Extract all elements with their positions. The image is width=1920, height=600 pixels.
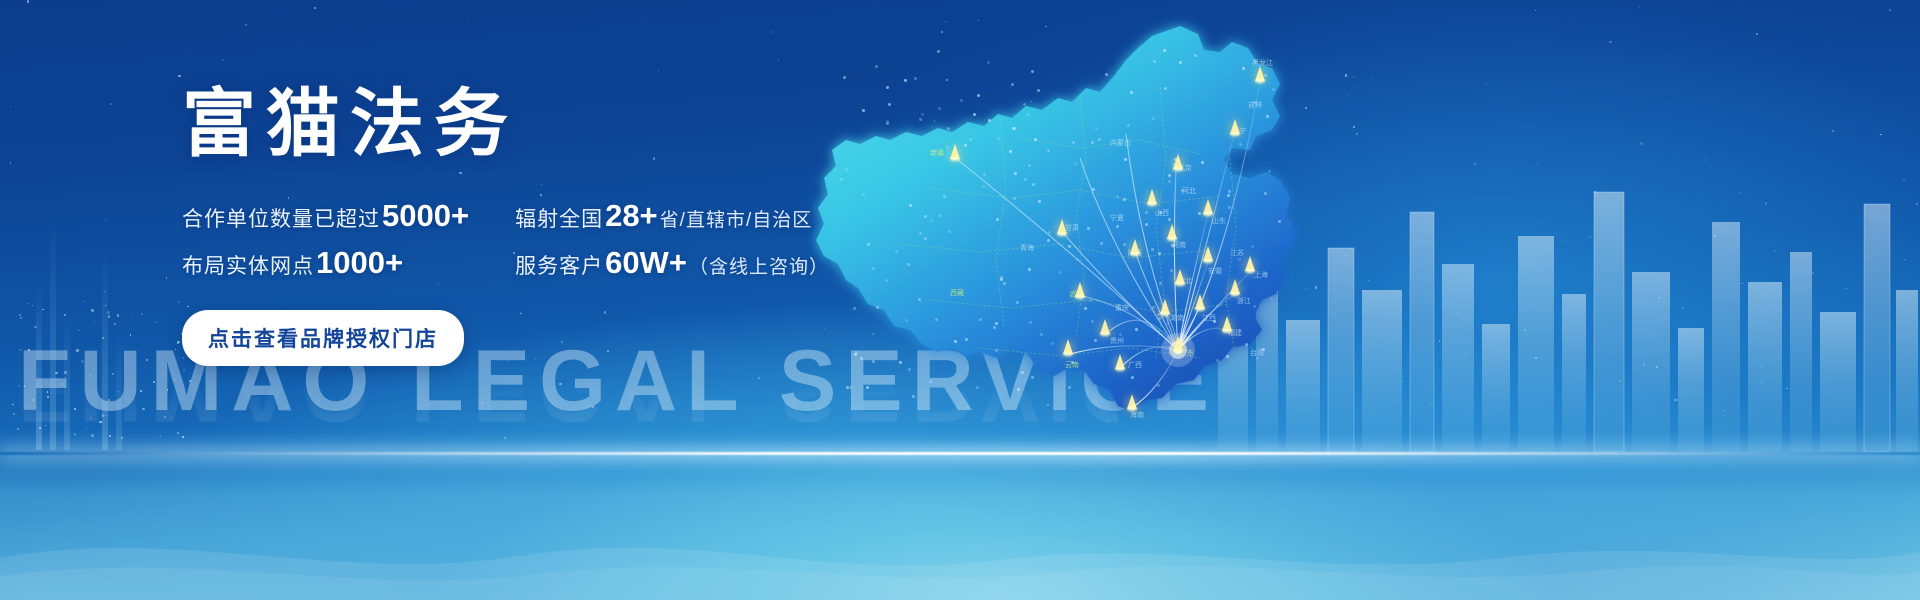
map-city-dot: [1245, 343, 1248, 346]
map-city-dot: [866, 386, 869, 389]
map-province-label: 江西: [1202, 313, 1216, 323]
map-city-dot: [855, 351, 858, 354]
promo-banner: 黑龙江吉林辽宁内蒙古新疆西藏青海甘肃宁夏陕西山西河北北京山东河南江苏安徽上海浙江…: [0, 0, 1920, 600]
map-city-dot: [904, 79, 907, 82]
map-location-marker: [1203, 245, 1213, 261]
particle-dot: [91, 309, 93, 311]
particle-dot: [94, 321, 95, 322]
map-city-dot: [1017, 388, 1020, 391]
map-location-marker: [1160, 298, 1170, 314]
map-city-dot: [1238, 258, 1241, 261]
map-city-dot: [919, 118, 922, 121]
map-city-dot: [1032, 183, 1035, 186]
light-column: [102, 250, 108, 450]
map-city-dot: [1152, 117, 1155, 120]
map-city-dot: [1153, 60, 1156, 63]
map-location-marker: [1195, 293, 1205, 309]
map-city-dot: [1091, 141, 1094, 144]
map-city-dot: [1181, 189, 1184, 192]
map-province-label: 湖北: [1178, 276, 1192, 286]
map-city-dot: [1239, 143, 1242, 146]
map-city-dot: [1116, 195, 1119, 198]
map-city-dot: [1226, 355, 1229, 358]
map-city-dot: [1028, 268, 1031, 271]
map-city-dot: [1158, 317, 1161, 320]
particle-dot: [10, 162, 11, 163]
map-city-dot: [1168, 218, 1171, 221]
map-city-dot: [1071, 361, 1074, 364]
map-city-dot: [1003, 282, 1006, 285]
map-city-dot: [1031, 70, 1034, 73]
stat-number: 28+: [605, 200, 658, 231]
map-city-dot: [993, 326, 996, 329]
map-city-dot: [854, 353, 857, 356]
map-province-label: 海南: [1130, 410, 1144, 420]
map-city-dot: [1087, 227, 1090, 230]
map-location-marker: [1075, 281, 1085, 297]
stat-suffix: 省/直辖市/自治区: [660, 205, 813, 232]
particle-dot: [1640, 142, 1642, 144]
map-city-dot: [1116, 225, 1119, 228]
map-city-dot: [909, 204, 912, 207]
map-city-dot: [1278, 220, 1281, 223]
map-province-label: 黑龙江: [1252, 58, 1273, 68]
map-city-dot: [1216, 359, 1219, 362]
map-location-marker: [1173, 153, 1183, 169]
map-city-dot: [1029, 321, 1032, 324]
map-city-dot: [872, 267, 875, 270]
map-city-dot: [1253, 305, 1256, 308]
map-city-dot: [1151, 248, 1154, 251]
map-city-dot: [1170, 269, 1173, 272]
particle-dot: [32, 305, 33, 306]
map-city-dot: [924, 237, 927, 240]
map-city-dot: [1174, 158, 1177, 161]
map-city-dot: [1098, 138, 1101, 141]
map-city-dot: [948, 230, 951, 233]
map-city-dot: [919, 232, 922, 235]
light-column: [50, 220, 56, 450]
map-city-dot: [1013, 197, 1016, 200]
map-city-dot: [938, 214, 941, 217]
map-city-dot: [1166, 322, 1169, 325]
map-city-dot: [930, 219, 933, 222]
map-city-dot: [977, 94, 980, 97]
particle-dot: [27, 303, 28, 304]
map-city-dot: [1009, 150, 1012, 153]
particle-dot: [1639, 7, 1640, 8]
map-city-dot: [840, 178, 843, 181]
map-city-dot: [1023, 103, 1026, 106]
map-city-dot: [853, 307, 856, 310]
map-city-dot: [969, 138, 972, 141]
stat-prefix: 布局实体网点: [182, 250, 314, 280]
map-city-dot: [1059, 271, 1062, 274]
particle-dot: [314, 7, 316, 9]
map-city-dot: [1047, 149, 1050, 152]
map-city-dot: [1168, 174, 1171, 177]
map-city-dot: [1194, 54, 1197, 57]
map-province-label: 台湾: [1250, 348, 1264, 358]
map-city-dot: [862, 109, 865, 112]
particle-dot: [27, 0, 29, 2]
map-location-marker: [950, 143, 960, 159]
particle-dot: [166, 277, 167, 278]
light-column: [116, 330, 122, 450]
particle-dot: [13, 413, 15, 415]
map-location-marker: [1230, 278, 1240, 294]
map-city-dot: [875, 65, 878, 68]
map-city-dot: [1145, 211, 1148, 214]
map-city-dot: [934, 150, 937, 153]
page-title: 富猫法务: [182, 84, 829, 164]
map-location-marker: [1203, 198, 1213, 214]
particle-dot: [1486, 84, 1487, 85]
map-city-dot: [1163, 49, 1166, 52]
map-province-label: 河南: [1172, 240, 1186, 250]
map-province-label: 浙江: [1237, 296, 1251, 306]
map-city-dot: [1172, 163, 1175, 166]
particle-dot: [112, 313, 113, 314]
map-city-dot: [979, 318, 982, 321]
particle-dot: [114, 323, 115, 324]
map-city-dot: [1130, 91, 1133, 94]
map-city-dot: [918, 298, 921, 301]
map-location-marker: [1222, 315, 1232, 331]
stat-prefix: 合作单位数量已超过: [182, 203, 380, 233]
stat-suffix: （含线上咨询）: [689, 252, 829, 279]
stat-prefix: 辐射全国: [515, 203, 603, 233]
particle-dot: [83, 301, 84, 302]
map-city-dot: [1016, 301, 1019, 304]
map-city-dot: [1131, 376, 1134, 379]
map-province-label: 山东: [1212, 216, 1226, 226]
map-city-dot: [1037, 89, 1040, 92]
map-location-marker: [1127, 393, 1137, 409]
stat-item: 服务客户 60W+ （含线上咨询）: [515, 247, 829, 280]
map-city-dot: [886, 120, 889, 123]
map-province-label: 辽宁: [1232, 126, 1246, 136]
stat-number: 60W+: [605, 247, 687, 278]
map-city-dot: [1000, 278, 1003, 281]
map-city-dot: [860, 357, 863, 360]
map-city-dot: [1123, 198, 1126, 201]
particle-dot: [156, 322, 157, 323]
map-province-label: 北京: [1178, 163, 1192, 173]
map-overlay: 黑龙江吉林辽宁内蒙古新疆西藏青海甘肃宁夏陕西山西河北北京山东河南江苏安徽上海浙江…: [780, 8, 1400, 448]
particle-dot: [12, 404, 13, 405]
map-city-dot: [1262, 348, 1265, 351]
map-city-dot: [938, 107, 941, 110]
particle-dot: [110, 103, 112, 105]
map-city-dot: [1038, 200, 1041, 203]
map-city-dot: [982, 185, 985, 188]
map-city-dot: [1000, 276, 1003, 279]
map-location-marker: [1173, 335, 1183, 351]
map-city-dot: [845, 168, 848, 171]
map-city-dot: [1168, 180, 1171, 183]
particle-dot: [222, 59, 224, 61]
map-city-dot: [1026, 113, 1029, 116]
particle-dot: [778, 59, 779, 60]
light-column: [64, 310, 70, 450]
particle-dot: [19, 314, 21, 316]
map-province-label: 陕西: [1128, 248, 1142, 258]
map-province-label: 内蒙古: [1110, 138, 1131, 148]
map-city-dot: [1179, 61, 1182, 64]
map-city-dot: [1158, 252, 1161, 255]
map-city-dot: [1094, 339, 1097, 342]
map-city-dot: [935, 318, 938, 321]
particle-dot: [108, 315, 110, 317]
map-city-dot: [1048, 231, 1051, 234]
map-city-dot: [1047, 239, 1050, 242]
particle-dot: [658, 70, 659, 71]
particle-dot: [1609, 41, 1611, 43]
map-city-dot: [899, 361, 902, 364]
view-authorized-stores-button[interactable]: 点击查看品牌授权门店: [182, 310, 464, 366]
particle-dot: [1880, 134, 1882, 136]
map-city-dot: [1028, 164, 1031, 167]
map-city-dot: [965, 338, 968, 341]
map-province-label: 宁夏: [1110, 213, 1124, 223]
stat-item: 合作单位数量已超过 5000+: [182, 200, 471, 233]
map-city-dot: [1034, 138, 1037, 141]
map-city-dot: [1272, 88, 1275, 91]
map-city-dot: [888, 103, 891, 106]
particle-dot: [62, 10, 63, 11]
map-province-label: 上海: [1254, 270, 1268, 280]
map-location-marker: [1115, 353, 1125, 369]
particle-dot: [772, 31, 774, 33]
map-location-marker: [1057, 218, 1067, 234]
map-city-dot: [1123, 243, 1126, 246]
map-city-dot: [929, 380, 932, 383]
stats-column-right: 辐射全国 28+ 省/直辖市/自治区 服务客户 60W+ （含线上咨询）: [515, 200, 829, 280]
map-city-dot: [1012, 127, 1015, 130]
map-city-dot: [1213, 320, 1216, 323]
particle-dot: [114, 284, 115, 285]
map-city-dot: [946, 146, 949, 149]
map-city-dot: [1072, 141, 1075, 144]
map-province-label: 四川: [1070, 290, 1084, 300]
map-province-label: 河北: [1182, 186, 1196, 196]
china-map: 黑龙江吉林辽宁内蒙古新疆西藏青海甘肃宁夏陕西山西河北北京山东河南江苏安徽上海浙江…: [780, 8, 1400, 448]
map-city-dot: [921, 113, 924, 116]
particle-dot: [141, 313, 143, 315]
map-city-dot: [1127, 124, 1130, 127]
map-city-dot: [1100, 242, 1103, 245]
map-city-dot: [937, 50, 940, 53]
map-province-label: 山西: [1155, 208, 1169, 218]
map-province-label: 福建: [1228, 328, 1242, 338]
stat-prefix: 服务客户: [515, 250, 603, 280]
map-city-dot: [1068, 245, 1071, 248]
map-city-dot: [1228, 190, 1231, 193]
particle-dot: [20, 317, 22, 319]
map-location-marker: [1255, 65, 1265, 81]
particle-dot: [132, 313, 133, 314]
map-city-dot: [1266, 115, 1269, 118]
particle-dot: [178, 301, 180, 303]
map-city-dot: [1198, 212, 1201, 215]
map-city-dot: [914, 77, 917, 80]
map-city-dot: [1095, 127, 1098, 130]
particle-dot: [117, 314, 119, 316]
stat-number: 5000+: [382, 200, 469, 231]
map-city-dot: [862, 193, 865, 196]
stats-group: 合作单位数量已超过 5000+ 布局实体网点 1000+ 辐射全国 28+ 省/…: [182, 200, 829, 280]
map-city-dot: [849, 386, 852, 389]
map-city-dot: [1119, 333, 1122, 336]
map-city-dot: [1176, 348, 1179, 351]
map-city-dot: [983, 173, 986, 176]
map-city-dot: [1228, 206, 1231, 209]
stats-column-left: 合作单位数量已超过 5000+ 布局实体网点 1000+: [182, 200, 471, 280]
particle-dot: [178, 75, 180, 77]
map-city-dot: [1013, 127, 1016, 130]
map-city-dot: [997, 137, 1000, 140]
particle-dot: [1756, 33, 1758, 35]
map-city-dot: [886, 122, 889, 125]
map-province-label: 湖南: [1170, 313, 1184, 323]
particle-dot: [78, 330, 79, 331]
hero-content: 富猫法务 合作单位数量已超过 5000+ 布局实体网点 1000+ 辐射全国 2…: [182, 84, 829, 366]
map-city-dot: [895, 250, 898, 253]
map-province-label: 云南: [1065, 360, 1079, 370]
particle-dot: [1535, 10, 1536, 11]
map-city-dot: [1145, 223, 1148, 226]
map-city-dot: [954, 340, 957, 343]
map-city-dot: [1084, 307, 1087, 310]
map-city-dot: [1227, 194, 1230, 197]
map-city-dot: [1159, 211, 1162, 214]
map-city-dot: [1164, 87, 1167, 90]
particle-dot: [468, 19, 469, 20]
map-city-dot: [876, 306, 879, 309]
map-city-dot: [1051, 342, 1054, 345]
map-province-label: 江苏: [1230, 248, 1244, 258]
map-province-label: 甘肃: [1065, 223, 1079, 233]
map-city-dot: [995, 349, 998, 352]
map-city-dot: [843, 76, 846, 79]
map-city-dot: [976, 386, 979, 389]
map-city-dot: [1074, 162, 1077, 165]
map-city-dot: [964, 144, 967, 147]
map-province-label: 西藏: [950, 288, 964, 298]
map-city-dot: [973, 113, 976, 116]
map-province-label: 贵州: [1110, 336, 1124, 346]
particle-dot: [1461, 114, 1462, 115]
map-province-label: 青海: [1020, 243, 1034, 253]
light-column: [36, 280, 42, 450]
map-city-dot: [1021, 371, 1024, 374]
map-province-label: 新疆: [930, 148, 944, 158]
map-location-marker: [1245, 255, 1255, 271]
map-city-dot: [1201, 161, 1204, 164]
stat-item: 辐射全国 28+ 省/直辖市/自治区: [515, 200, 829, 233]
particle-dot: [42, 309, 43, 310]
map-city-dot: [995, 322, 998, 325]
map-location-marker: [1167, 223, 1177, 239]
map-city-dot: [1135, 328, 1138, 331]
map-location-marker: [1147, 188, 1157, 204]
map-city-dot: [1152, 306, 1155, 309]
map-province-label: 安徽: [1208, 266, 1222, 276]
map-city-dot: [996, 218, 999, 221]
map-city-dot: [1253, 101, 1256, 104]
map-city-dot: [846, 386, 849, 389]
particle-dot: [105, 220, 106, 221]
particle-dot: [1832, 130, 1834, 132]
map-province-label: 重庆: [1115, 303, 1129, 313]
map-city-dot: [960, 99, 963, 102]
map-city-dot: [885, 279, 888, 282]
map-city-dot: [1068, 386, 1071, 389]
map-city-dot: [924, 215, 927, 218]
map-city-dot: [1076, 258, 1079, 261]
map-city-dot: [1157, 313, 1160, 316]
map-city-dot: [1105, 73, 1108, 76]
map-city-dot: [987, 61, 990, 64]
map-city-dot: [1268, 170, 1271, 173]
stat-number: 1000+: [316, 247, 403, 278]
map-city-dot: [1089, 299, 1092, 302]
map-city-dot: [1011, 83, 1014, 86]
map-city-dot: [1157, 384, 1160, 387]
map-location-marker: [1130, 238, 1140, 254]
map-city-dot: [907, 263, 910, 266]
map-city-dot: [1091, 320, 1094, 323]
map-city-dot: [908, 368, 911, 371]
map-city-dot: [988, 119, 991, 122]
map-city-dot: [1092, 188, 1095, 191]
stat-item: 布局实体网点 1000+: [182, 247, 471, 280]
particle-dot: [245, 24, 247, 26]
particle-dot: [10, 106, 11, 107]
map-province-label: 广西: [1128, 360, 1142, 370]
map-city-dot: [1014, 172, 1017, 175]
map-city-dot: [1264, 74, 1267, 77]
map-province-label: 广东: [1180, 348, 1194, 358]
map-location-marker: [1063, 338, 1073, 354]
map-city-dot: [1024, 178, 1027, 181]
map-city-dot: [1171, 244, 1174, 247]
map-city-dot: [1031, 376, 1034, 379]
map-province-label: 吉林: [1248, 100, 1262, 110]
map-city-dot: [872, 360, 875, 363]
map-city-dot: [1264, 192, 1267, 195]
map-location-marker: [1230, 118, 1240, 134]
map-city-dot: [1251, 245, 1254, 248]
map-city-dot: [1159, 282, 1162, 285]
map-city-dot: [1040, 333, 1043, 336]
map-city-dot: [1124, 158, 1127, 161]
map-city-dot: [947, 127, 950, 130]
map-city-dot: [943, 195, 946, 198]
particle-dot: [1889, 9, 1891, 11]
map-location-marker: [1175, 268, 1185, 284]
map-city-dot: [886, 86, 889, 89]
map-city-dot: [1242, 67, 1245, 70]
map-city-dot: [867, 243, 870, 246]
map-location-marker: [1100, 318, 1110, 334]
map-city-dot: [905, 319, 908, 322]
